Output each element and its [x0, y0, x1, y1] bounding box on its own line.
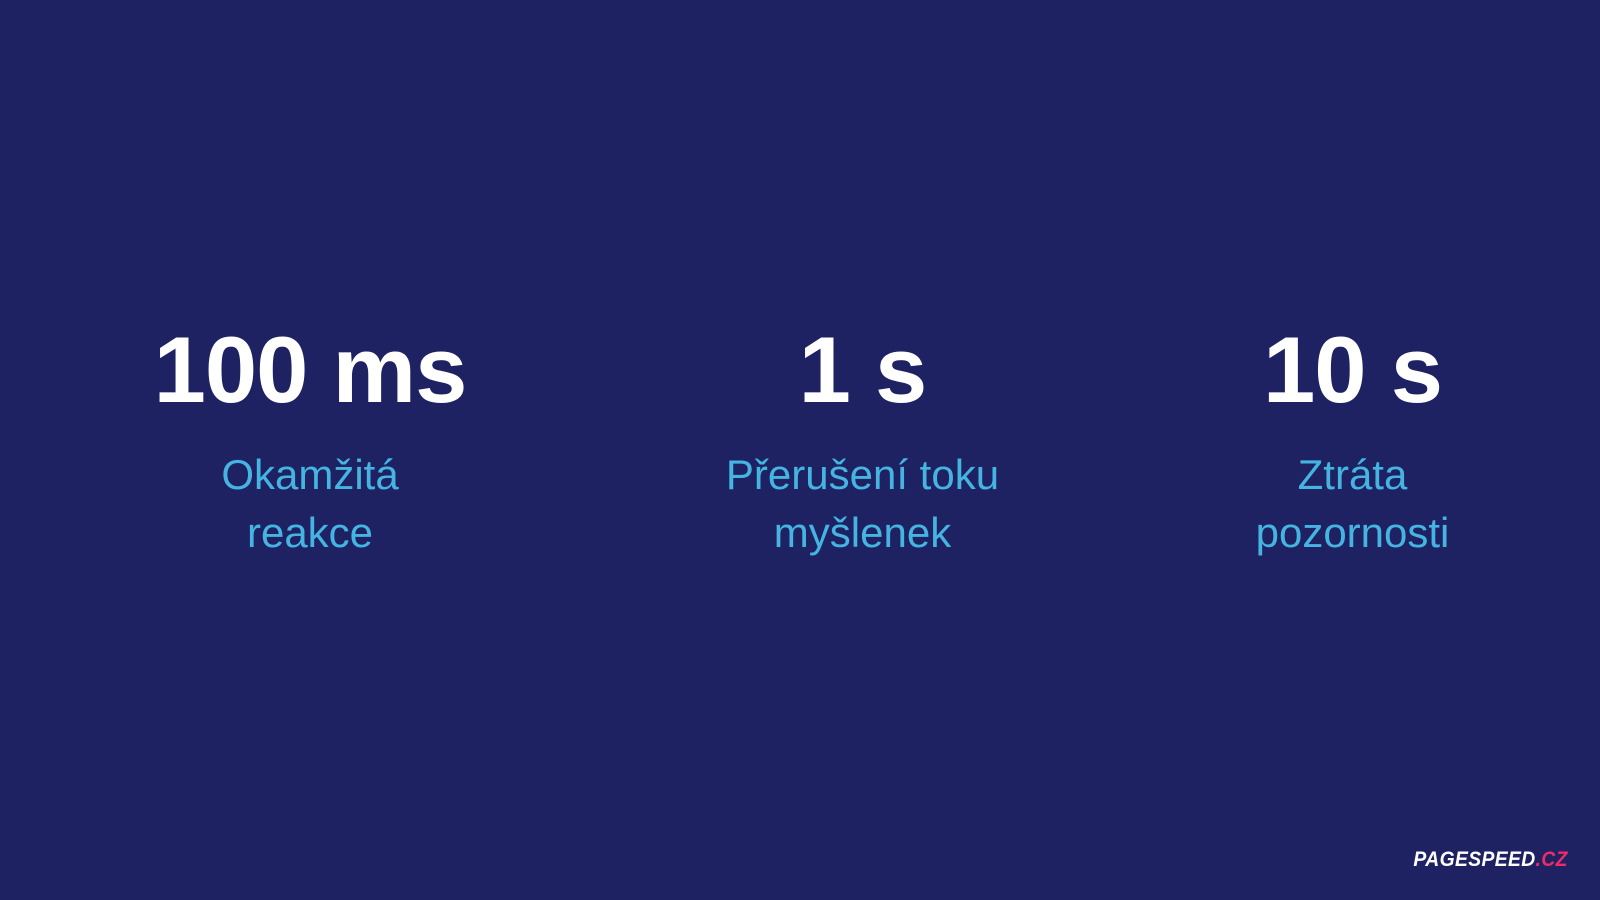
stat-column-1: 100 ms Okamžitá reakce — [0, 318, 620, 562]
slide-canvas: 100 ms Okamžitá reakce 1 s Přerušení tok… — [0, 0, 1600, 900]
stat-label-2: Přerušení toku myšlenek — [726, 446, 999, 562]
stat-label-3-line1: Ztráta — [1298, 451, 1408, 498]
stat-label-2-line1: Přerušení toku — [726, 451, 999, 498]
brand-logo-name: PAGESPEED — [1414, 849, 1536, 870]
stat-label-1-line2: reakce — [247, 509, 373, 556]
stat-value-1: 100 ms — [154, 318, 467, 422]
stat-label-1-line1: Okamžitá — [221, 451, 398, 498]
brand-logo-tld: .CZ — [1536, 849, 1568, 870]
stat-column-2: 1 s Přerušení toku myšlenek — [620, 318, 1105, 562]
stat-label-3: Ztráta pozornosti — [1256, 446, 1450, 562]
stat-label-2-line2: myšlenek — [774, 509, 951, 556]
stat-column-3: 10 s Ztráta pozornosti — [1105, 318, 1600, 562]
stat-value-2: 1 s — [799, 318, 927, 422]
stat-label-3-line2: pozornosti — [1256, 509, 1450, 556]
stat-label-1: Okamžitá reakce — [221, 446, 398, 562]
stat-value-3: 10 s — [1263, 318, 1442, 422]
stats-band: 100 ms Okamžitá reakce 1 s Přerušení tok… — [0, 318, 1600, 588]
brand-logo: PAGESPEED.CZ — [1414, 849, 1568, 870]
